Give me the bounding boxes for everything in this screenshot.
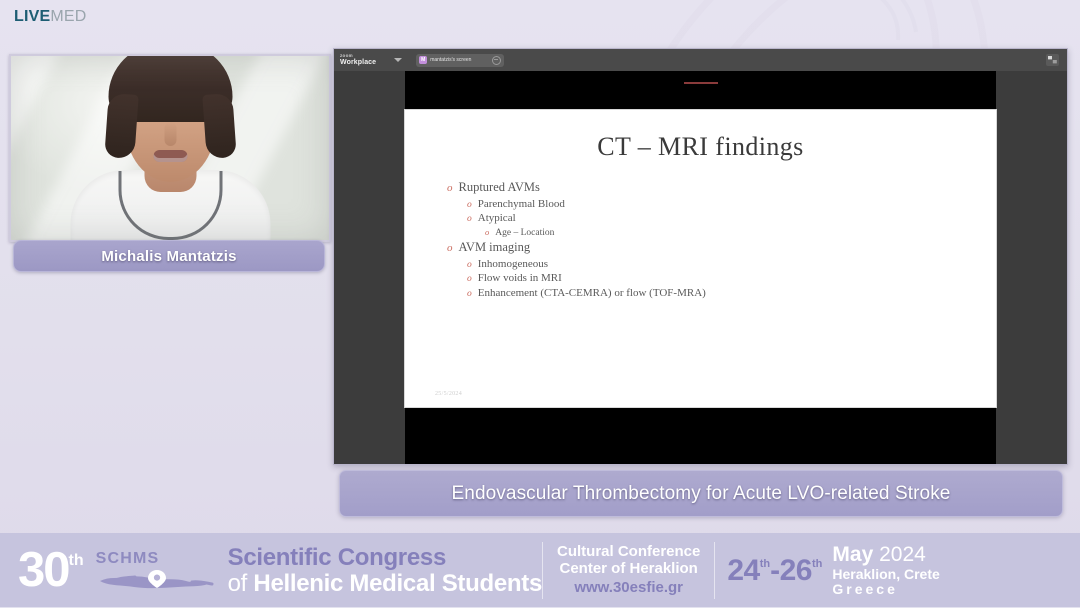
zoom-toolbar: zoom Workplace M mantatzis's screen (334, 49, 1067, 71)
shared-content-area: CT – MRI findings ο Ruptured AVMs ο Pare… (405, 71, 996, 464)
bullet-glyph-icon: ο (485, 227, 489, 237)
list-item-label: Parenchymal Blood (478, 198, 565, 210)
edition-number-suffix: th (69, 554, 84, 568)
share-tab-label: mantatzis's screen (430, 57, 489, 63)
venue-block: Cultural Conference Center of Heraklion … (543, 533, 714, 608)
congress-dates: 24th-26th (727, 556, 822, 586)
bullet-glyph-icon: ο (467, 289, 472, 299)
video-vignette (11, 56, 329, 240)
congress-name-line2: of Hellenic Medical Students (228, 571, 542, 596)
list-item-label: Inhomogeneous (478, 258, 548, 270)
slide-title: CT – MRI findings (405, 132, 996, 162)
list-item: ο Atypical (405, 212, 996, 224)
congress-website[interactable]: www.30esfie.gr (574, 580, 683, 597)
year-label: 2024 (879, 543, 926, 566)
lecture-title-bar: Endovascular Thrombectomy for Acute LVO-… (339, 470, 1063, 517)
list-item: ο Ruptured AVMs (405, 180, 996, 195)
congress-identity: 30th SCHMS Scientific (0, 533, 542, 608)
date-block: 24th-26th May 2024 Heraklion, Crete Gree… (715, 533, 951, 608)
month-year: May 2024 (832, 543, 939, 567)
bullet-glyph-icon: ο (467, 200, 472, 210)
date-details: May 2024 Heraklion, Crete Greece (832, 543, 939, 599)
congress-name-line2-prefix: of (228, 570, 254, 597)
sharing-indicator (684, 82, 718, 84)
bullet-glyph-icon: ο (447, 182, 453, 194)
edition-number: 30th (18, 548, 84, 592)
zoom-workplace-brand: zoom Workplace (340, 54, 376, 67)
speaker-name: Michalis Mantatzis (101, 248, 236, 265)
venue-line1: Cultural Conference (557, 544, 700, 561)
speaker-nameplate: Michalis Mantatzis (13, 240, 325, 272)
list-item-label: Ruptured AVMs (459, 180, 540, 195)
presentation-slide: CT – MRI findings ο Ruptured AVMs ο Pare… (405, 110, 996, 407)
close-icon[interactable] (492, 56, 501, 65)
date-start: 24 (727, 556, 759, 586)
bullet-glyph-icon: ο (467, 214, 472, 224)
slide-bullet-list: ο Ruptured AVMs ο Parenchymal Blood ο At… (405, 180, 996, 299)
country-label: Greece (832, 582, 939, 598)
list-item: ο Flow voids in MRI (405, 272, 996, 284)
acronym-block: SCHMS (96, 551, 214, 591)
zoom-brand-line2: Workplace (340, 59, 376, 66)
fullscreen-icon[interactable] (1046, 54, 1059, 66)
avatar: M (419, 56, 427, 64)
list-item: ο Parenchymal Blood (405, 198, 996, 210)
chevron-down-icon[interactable] (394, 58, 402, 62)
month-label: May (832, 543, 873, 566)
crete-island-map-icon (96, 569, 214, 591)
logo-live: LIVE (14, 8, 50, 25)
lecture-title-label: Endovascular Thrombectomy for Acute LVO-… (452, 483, 951, 505)
list-item: ο Inhomogeneous (405, 258, 996, 270)
zoom-brand-line1: zoom (340, 54, 376, 59)
bullet-glyph-icon: ο (447, 242, 453, 254)
list-item-label: Flow voids in MRI (478, 272, 562, 284)
edition-number-value: 30 (18, 548, 69, 592)
list-item: ο Age – Location (405, 227, 996, 238)
list-item: ο AVM imaging (405, 240, 996, 255)
presentation-page: LIVEMED Michalis Mantatzis (0, 0, 1080, 608)
bullet-glyph-icon: ο (467, 274, 472, 284)
bullet-glyph-icon: ο (467, 260, 472, 270)
city-label: Heraklion, Crete (832, 567, 939, 583)
congress-name-line2-main: Hellenic Medical Students (253, 570, 542, 597)
date-end-suffix: th (812, 559, 822, 570)
slide-date-stamp: 25/5/2024 (435, 391, 462, 397)
screen-share-window[interactable]: zoom Workplace M mantatzis's screen CT –… (333, 48, 1068, 465)
speaker-video-tile[interactable] (9, 54, 331, 242)
venue-line2: Center of Heraklion (559, 561, 697, 578)
congress-acronym: SCHMS (96, 551, 214, 567)
date-dash: - (770, 556, 780, 586)
congress-name: Scientific Congress of Hellenic Medical … (228, 545, 542, 596)
livemed-logo: LIVEMED (14, 9, 87, 25)
date-start-suffix: th (760, 559, 770, 570)
logo-med: MED (50, 8, 86, 25)
congress-name-line1: Scientific Congress (228, 545, 542, 570)
list-item: ο Enhancement (CTA-CEMRA) or flow (TOF-M… (405, 287, 996, 299)
list-item-label: Age – Location (495, 228, 554, 238)
list-item-label: Enhancement (CTA-CEMRA) or flow (TOF-MRA… (478, 287, 706, 299)
list-item-label: AVM imaging (459, 240, 531, 255)
congress-banner: 30th SCHMS Scientific (0, 533, 1080, 608)
list-item-label: Atypical (478, 212, 516, 224)
share-tab[interactable]: M mantatzis's screen (416, 54, 504, 67)
date-end: 26 (780, 556, 812, 586)
